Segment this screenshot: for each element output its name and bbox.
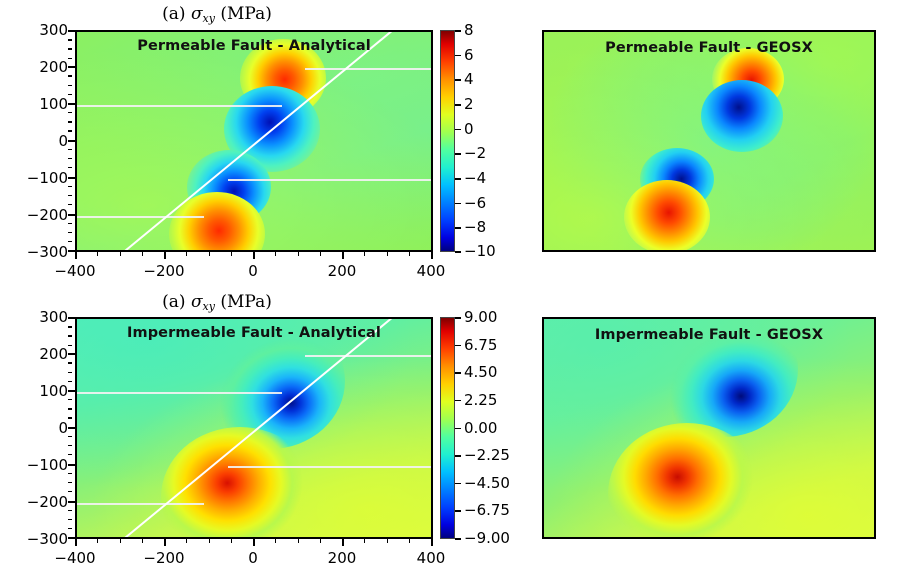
panel-bottom-left: (a) σxy (MPa) 300 200 100 0 −100 −200 −3…	[0, 290, 470, 577]
fault-horizontal-line	[305, 68, 433, 70]
plot-area-top-left: Permeable Fault - Analytical	[75, 30, 433, 252]
colorbar-top-left: 8 6 4 2 0 −2 −4 −6 −8 −10	[440, 30, 455, 252]
x-tick-label: −400	[54, 549, 95, 567]
colorbar-bottom-left: 9.00 6.75 4.50 2.25 0.00 −2.25 −4.50 −6.…	[440, 317, 455, 539]
title-unit: (MPa)	[220, 292, 271, 312]
fault-horizontal-line	[77, 216, 204, 218]
colorbar-tick-label: 6	[464, 46, 474, 64]
colorbar-tick-label: 9.00	[464, 308, 497, 326]
colorbar-tick-label: −6	[464, 194, 486, 212]
colorbar-tick-label: −10	[464, 242, 496, 260]
colorbar-gradient	[440, 30, 455, 252]
colorbar-tick-label: −8	[464, 218, 486, 236]
y-axis-ticks-bottom-left	[67, 317, 75, 539]
stress-lobe-positive	[624, 180, 710, 252]
colorbar-tick-label: 6.75	[464, 336, 497, 354]
panel-inner-label-bottom-right: Impermeable Fault - GEOSX	[544, 327, 874, 343]
x-tick-label: 400	[417, 549, 446, 567]
x-axis-ticks-top-left	[75, 252, 433, 260]
x-tick-label: −200	[143, 549, 184, 567]
y-axis-labels-top-left: 300 200 100 0 −100 −200 −300	[0, 30, 68, 252]
colorbar-tick-label: 2.25	[464, 391, 497, 409]
colorbar-tick-label: 4	[464, 70, 474, 88]
colorbar-tick-label: 0	[464, 120, 474, 138]
x-tick-label: 400	[417, 262, 446, 280]
panel-top-left: (a) σxy (MPa) 300 200 100 0 −100 −200 −3…	[0, 0, 470, 290]
colorbar-tick-label: 0.00	[464, 419, 497, 437]
x-tick-label: 0	[248, 262, 258, 280]
panel-top-right: Permeable Fault - GEOSX	[542, 30, 876, 252]
y-tick-label: 100	[39, 95, 68, 113]
stress-field-bottom-right	[544, 319, 874, 537]
y-tick-label: −300	[27, 530, 68, 548]
title-sigma-symbol: σ	[191, 4, 203, 24]
colorbar-tick-label: −6.75	[464, 501, 510, 519]
colorbar-tick-label: 8	[464, 21, 474, 39]
colorbar-tick-label: 4.50	[464, 363, 497, 381]
y-tick-label: 200	[39, 345, 68, 363]
y-axis-labels-bottom-left: 300 200 100 0 −100 −200 −300	[0, 317, 68, 539]
fault-horizontal-line	[77, 503, 204, 505]
colorbar-tick-label: −9.00	[464, 529, 510, 547]
plot-area-bottom-left: Impermeable Fault - Analytical	[75, 317, 433, 539]
x-tick-label: 0	[248, 549, 258, 567]
stress-lobe-negative	[701, 80, 783, 152]
title-sigma-symbol: σ	[191, 292, 203, 312]
x-axis-labels-bottom-left: −400 −200 0 200 400	[75, 549, 433, 569]
y-tick-label: −300	[27, 243, 68, 261]
panel-bottom-right: Impermeable Fault - GEOSX	[542, 317, 876, 539]
panel-inner-label-top-left: Permeable Fault - Analytical	[77, 38, 431, 54]
colorbar-tick-label: −2.25	[464, 446, 510, 464]
panel-inner-label-bottom-left: Impermeable Fault - Analytical	[77, 325, 431, 341]
colorbar-gradient	[440, 317, 455, 539]
fault-horizontal-line	[305, 355, 433, 357]
y-tick-label: −100	[27, 456, 68, 474]
colorbar-tick-label: 2	[464, 95, 474, 113]
fault-horizontal-line	[77, 105, 282, 107]
y-tick-label: −200	[27, 493, 68, 511]
x-axis-labels-top-left: −400 −200 0 200 400	[75, 262, 433, 282]
title-prefix: (a)	[162, 292, 185, 312]
title-subscript: xy	[203, 300, 215, 313]
colorbar-tick-label: −2	[464, 144, 486, 162]
y-tick-label: −200	[27, 206, 68, 224]
stress-field-bottom-left	[77, 319, 431, 537]
fault-horizontal-line	[228, 466, 433, 468]
x-tick-label: 200	[328, 262, 357, 280]
x-axis-ticks-bottom-left	[75, 539, 433, 547]
title-unit: (MPa)	[220, 4, 271, 24]
y-tick-label: 100	[39, 382, 68, 400]
figure-canvas: (a) σxy (MPa) 300 200 100 0 −100 −200 −3…	[0, 0, 906, 577]
stress-field-top-left	[77, 32, 431, 250]
x-tick-label: −400	[54, 262, 95, 280]
title-prefix: (a)	[162, 4, 185, 24]
panel-inner-label-top-right: Permeable Fault - GEOSX	[544, 40, 874, 56]
y-axis-ticks-top-left	[67, 30, 75, 252]
stress-field-top-right	[544, 32, 874, 250]
plot-area-bottom-right: Impermeable Fault - GEOSX	[542, 317, 876, 539]
x-tick-label: −200	[143, 262, 184, 280]
title-subscript: xy	[203, 12, 215, 25]
y-tick-label: 200	[39, 58, 68, 76]
fault-horizontal-line	[228, 179, 433, 181]
y-tick-label: −100	[27, 169, 68, 187]
fault-horizontal-line	[77, 392, 282, 394]
x-tick-label: 200	[328, 549, 357, 567]
colorbar-tick-label: −4	[464, 169, 486, 187]
y-tick-label: 300	[39, 21, 68, 39]
colorbar-tick-label: −4.50	[464, 474, 510, 492]
plot-area-top-right: Permeable Fault - GEOSX	[542, 30, 876, 252]
y-tick-label: 300	[39, 308, 68, 326]
